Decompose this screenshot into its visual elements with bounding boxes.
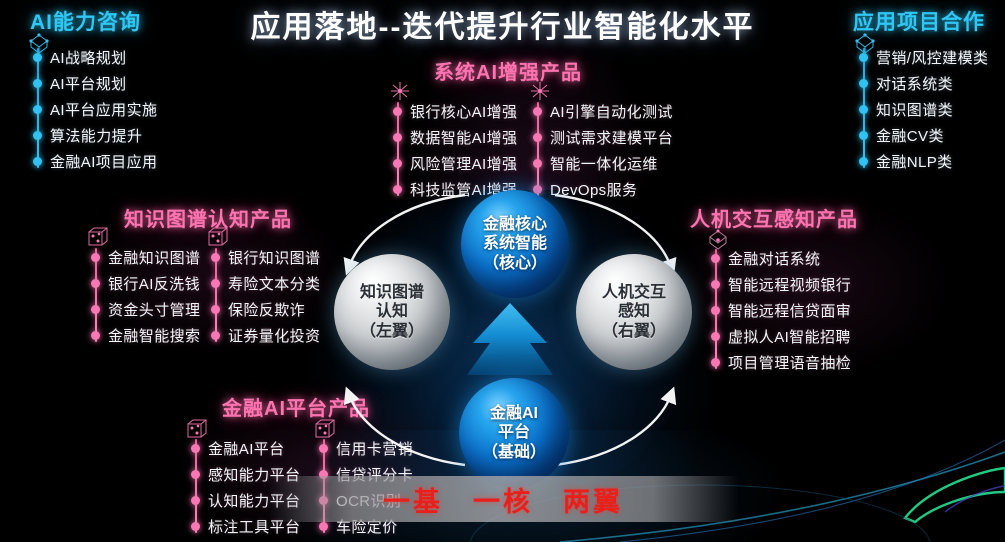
list-item[interactable]: 智能远程信贷面审 bbox=[710, 297, 851, 323]
bullet-dot bbox=[533, 159, 542, 168]
list-item-label: AI平台应用实施 bbox=[50, 99, 157, 120]
sphere-left-wing[interactable]: 知识图谱 认知 （左翼） bbox=[334, 254, 450, 370]
list-ai-consult: AI战略规划 AI平台规划 AI平台应用实施 算法能力提升 金融AI项目应用 bbox=[32, 44, 157, 174]
list-item-label: 银行核心AI增强 bbox=[410, 101, 517, 122]
list-item-label: 智能远程信贷面审 bbox=[728, 300, 851, 321]
slogan: 一基 一核 两翼 bbox=[268, 478, 738, 520]
sphere-right-line1: 人机交互 bbox=[602, 283, 666, 303]
sphere-core-line2: 系统智能 bbox=[483, 234, 547, 254]
list-item-label: AI战略规划 bbox=[50, 47, 127, 68]
bullet-dot bbox=[211, 279, 220, 288]
list-item-label: 虚拟人AI智能招聘 bbox=[728, 326, 851, 347]
bullet-dot bbox=[191, 496, 200, 505]
list-hci: 金融对话系统 智能远程视频银行 智能远程信贷面审 虚拟人AI智能招聘 项目管理语… bbox=[710, 245, 851, 375]
bullet-dot bbox=[711, 254, 720, 263]
list-item-label: 营销/风控建模类 bbox=[876, 47, 988, 68]
bullet-dot bbox=[859, 157, 868, 166]
list-item[interactable]: 保险反欺诈 bbox=[210, 296, 320, 322]
list-item-label: 测试需求建模平台 bbox=[550, 127, 673, 148]
list-knowledge-graph-col1: 金融知识图谱 银行AI反洗钱 资金头寸管理 金融智能搜索 bbox=[90, 244, 200, 348]
list-item[interactable]: 营销/风控建模类 bbox=[858, 44, 988, 70]
list-item[interactable]: 金融NLP类 bbox=[858, 148, 988, 174]
bullet-dot bbox=[393, 133, 402, 142]
sphere-left-line3: （左翼） bbox=[360, 322, 424, 342]
bullet-dot bbox=[91, 331, 100, 340]
sphere-right-wing[interactable]: 人机交互 感知 （右翼） bbox=[576, 254, 692, 370]
list-item[interactable]: 算法能力提升 bbox=[32, 122, 157, 148]
slogan-part-a: 一基 bbox=[383, 480, 443, 519]
list-item[interactable]: 金融AI项目应用 bbox=[32, 148, 157, 174]
list-item-label: AI引擎自动化测试 bbox=[550, 101, 673, 122]
bullet-dot bbox=[33, 105, 42, 114]
infographic-canvas: 应用落地--迭代提升行业智能化水平 AI能力咨询 AI战略规划 AI平台规划 A… bbox=[0, 0, 1005, 542]
list-item[interactable]: 风险管理AI增强 bbox=[392, 150, 517, 176]
list-item-label: 知识图谱类 bbox=[876, 99, 953, 120]
sphere-bottom-line1: 金融AI bbox=[490, 404, 538, 424]
bullet-dot bbox=[33, 131, 42, 140]
bullet-dot bbox=[191, 522, 200, 531]
bullet-dot bbox=[91, 279, 100, 288]
list-item-label: 项目管理语音抽检 bbox=[728, 352, 851, 373]
list-item-label: 金融智能搜索 bbox=[108, 325, 200, 346]
slogan-part-b: 一核 bbox=[473, 480, 533, 519]
list-item[interactable]: 测试需求建模平台 bbox=[532, 124, 673, 150]
list-item-label: 对话系统类 bbox=[876, 73, 953, 94]
list-item-label: 算法能力提升 bbox=[50, 125, 142, 146]
list-item-label: 智能远程视频银行 bbox=[728, 274, 851, 295]
list-item[interactable]: AI平台规划 bbox=[32, 70, 157, 96]
list-item-label: 金融NLP类 bbox=[876, 151, 953, 172]
list-project-coop: 营销/风控建模类 对话系统类 知识图谱类 金融CV类 金融NLP类 bbox=[858, 44, 988, 174]
sphere-right-line2: 感知 bbox=[618, 302, 650, 322]
list-item[interactable]: 金融AI平台 bbox=[190, 435, 300, 461]
list-item-label: 金融知识图谱 bbox=[108, 247, 200, 268]
list-item[interactable]: 对话系统类 bbox=[858, 70, 988, 96]
list-item[interactable]: AI战略规划 bbox=[32, 44, 157, 70]
list-item[interactable]: 资金头寸管理 bbox=[90, 296, 200, 322]
bullet-dot bbox=[859, 53, 868, 62]
bullet-dot bbox=[33, 157, 42, 166]
bullet-dot bbox=[319, 522, 328, 531]
list-item[interactable]: 项目管理语音抽检 bbox=[710, 349, 851, 375]
bullet-dot bbox=[711, 280, 720, 289]
bullet-dot bbox=[533, 133, 542, 142]
bullet-dot bbox=[211, 253, 220, 262]
bullet-dot bbox=[859, 79, 868, 88]
list-item[interactable]: 银行核心AI增强 bbox=[392, 98, 517, 124]
list-item[interactable]: 数据智能AI增强 bbox=[392, 124, 517, 150]
heading-system-ai: 系统AI增强产品 bbox=[434, 56, 582, 85]
list-item-label: 智能一体化运维 bbox=[550, 153, 658, 174]
bullet-dot bbox=[33, 53, 42, 62]
list-item[interactable]: 证券量化投资 bbox=[210, 322, 320, 348]
list-item-label: 风险管理AI增强 bbox=[410, 153, 517, 174]
bullet-dot bbox=[393, 159, 402, 168]
bullet-dot bbox=[91, 253, 100, 262]
list-item-label: 证券量化投资 bbox=[228, 325, 320, 346]
list-knowledge-graph-col2: 银行知识图谱 寿险文本分类 保险反欺诈 证券量化投资 bbox=[210, 244, 320, 348]
list-item[interactable]: 金融智能搜索 bbox=[90, 322, 200, 348]
bullet-dot bbox=[211, 305, 220, 314]
sphere-left-line1: 知识图谱 bbox=[360, 283, 424, 303]
bullet-dot bbox=[711, 332, 720, 341]
bullet-dot bbox=[859, 131, 868, 140]
list-item[interactable]: 金融对话系统 bbox=[710, 245, 851, 271]
bullet-dot bbox=[33, 79, 42, 88]
list-item-label: 银行AI反洗钱 bbox=[108, 273, 200, 294]
list-item[interactable]: 银行AI反洗钱 bbox=[90, 270, 200, 296]
list-item[interactable]: 金融知识图谱 bbox=[90, 244, 200, 270]
bullet-dot bbox=[859, 105, 868, 114]
list-item-label: 保险反欺诈 bbox=[228, 299, 305, 320]
list-item-label: AI平台规划 bbox=[50, 73, 127, 94]
list-item[interactable]: 虚拟人AI智能招聘 bbox=[710, 323, 851, 349]
bullet-dot bbox=[711, 306, 720, 315]
slogan-part-c: 两翼 bbox=[563, 480, 623, 519]
sphere-foundation[interactable]: 金融AI 平台 （基础） bbox=[459, 378, 569, 488]
list-item[interactable]: AI平台应用实施 bbox=[32, 96, 157, 122]
list-item-label: 寿险文本分类 bbox=[228, 273, 320, 294]
list-item[interactable]: AI引擎自动化测试 bbox=[532, 98, 673, 124]
sphere-core-line1: 金融核心 bbox=[483, 215, 547, 235]
sphere-right-line3: （右翼） bbox=[602, 322, 666, 342]
bullet-dot bbox=[211, 331, 220, 340]
bullet-dot bbox=[533, 107, 542, 116]
list-item-label: 银行知识图谱 bbox=[228, 247, 320, 268]
sphere-left-line2: 认知 bbox=[376, 302, 408, 322]
list-item[interactable]: 知识图谱类 bbox=[858, 96, 988, 122]
bullet-dot bbox=[393, 107, 402, 116]
list-item-label: 金融CV类 bbox=[876, 125, 944, 146]
sphere-bottom-line2: 平台 bbox=[498, 423, 530, 443]
list-item-label: 数据智能AI增强 bbox=[410, 127, 517, 148]
sphere-core-line3: （核心） bbox=[483, 254, 547, 274]
sphere-bottom-line3: （基础） bbox=[482, 443, 546, 463]
bullet-dot bbox=[711, 358, 720, 367]
list-item-label: 资金头寸管理 bbox=[108, 299, 200, 320]
list-item[interactable]: 智能一体化运维 bbox=[532, 150, 673, 176]
list-item-label: 金融AI平台 bbox=[208, 438, 285, 459]
bullet-dot bbox=[191, 470, 200, 479]
sphere-core[interactable]: 金融核心 系统智能 （核心） bbox=[461, 190, 569, 298]
bullet-dot bbox=[191, 444, 200, 453]
list-item[interactable]: 寿险文本分类 bbox=[210, 270, 320, 296]
list-item[interactable]: 金融CV类 bbox=[858, 122, 988, 148]
list-item[interactable]: 智能远程视频银行 bbox=[710, 271, 851, 297]
list-item[interactable]: 银行知识图谱 bbox=[210, 244, 320, 270]
list-item-label: 金融AI项目应用 bbox=[50, 151, 157, 172]
bullet-dot bbox=[91, 305, 100, 314]
list-item-label: 金融对话系统 bbox=[728, 248, 820, 269]
